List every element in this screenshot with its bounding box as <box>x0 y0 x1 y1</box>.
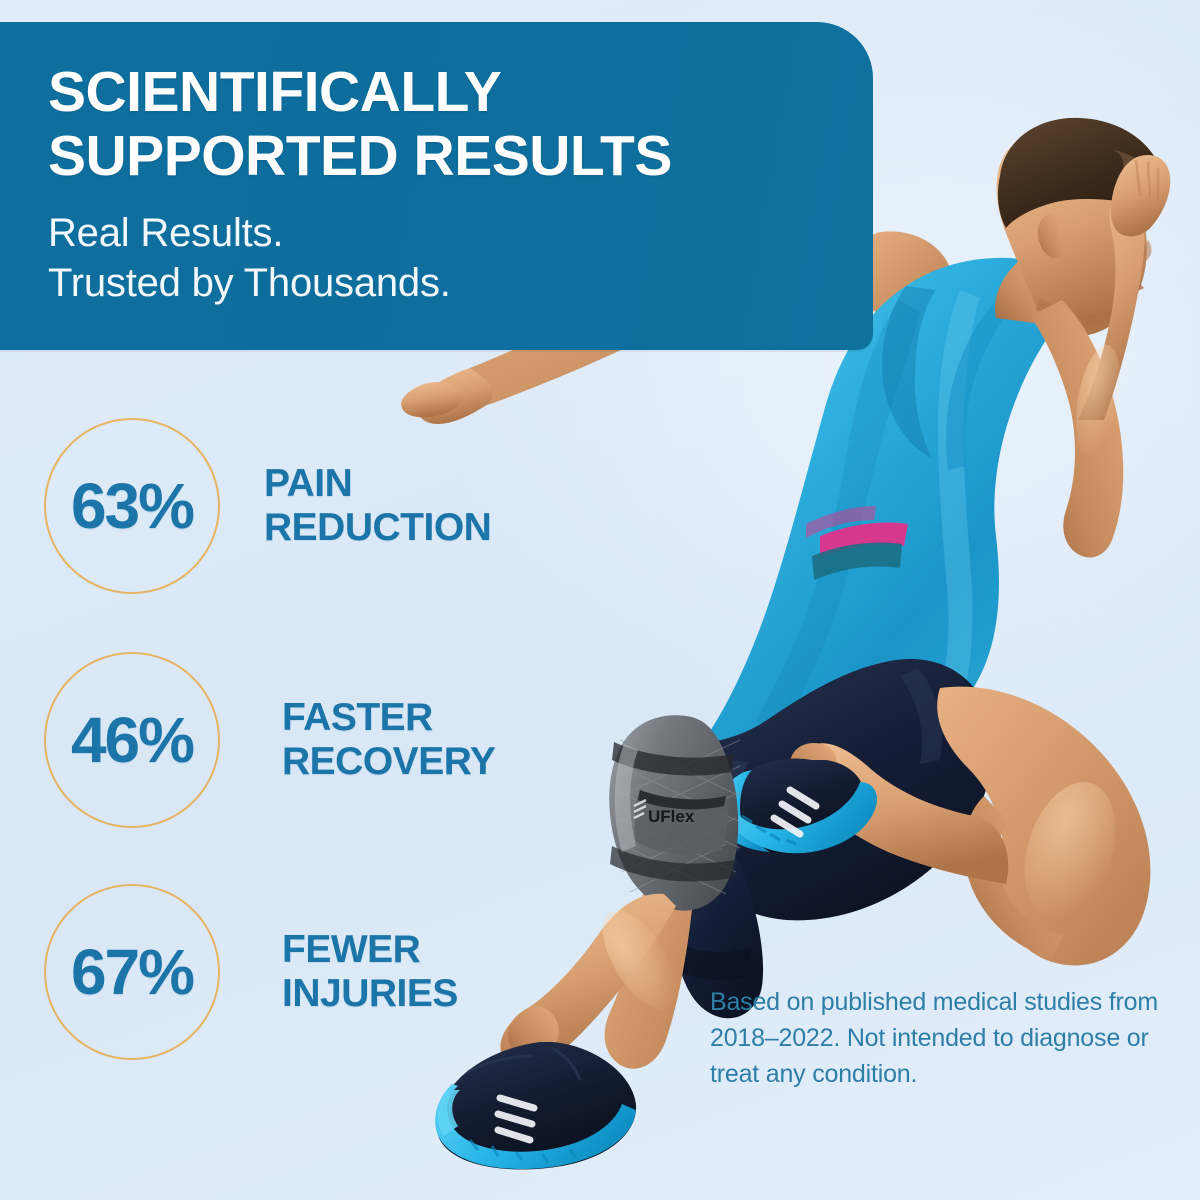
stat-item-pain-reduction: 63% PAIN REDUCTION <box>44 418 491 594</box>
stat-label-3-line-2: INJURIES <box>282 972 458 1016</box>
knee-brace-product: UFlex <box>609 715 740 910</box>
stat-label-2: FASTER RECOVERY <box>282 696 495 784</box>
infographic-canvas: UFlex <box>0 0 1200 1200</box>
stat-item-fewer-injuries: 67% FEWER INJURIES <box>44 884 458 1060</box>
stat-value-1: 63% <box>71 474 193 538</box>
statistics-group: 63% PAIN REDUCTION 46% FASTER RECOVERY 6… <box>0 0 620 1200</box>
stat-label-1-line-1: PAIN <box>264 462 491 506</box>
stat-circle-1: 63% <box>44 418 220 594</box>
stat-circle-3: 67% <box>44 884 220 1060</box>
stat-label-3-line-1: FEWER <box>282 928 458 972</box>
disclaimer-text: Based on published medical studies from … <box>710 984 1160 1092</box>
stat-item-faster-recovery: 46% FASTER RECOVERY <box>44 652 495 828</box>
stat-value-2: 46% <box>71 708 193 772</box>
stat-label-2-line-2: RECOVERY <box>282 740 495 784</box>
stat-label-1-line-2: REDUCTION <box>264 506 491 550</box>
brace-brand-label: UFlex <box>648 807 695 826</box>
stat-label-1: PAIN REDUCTION <box>264 462 491 550</box>
stat-value-3: 67% <box>71 940 193 1004</box>
stat-label-2-line-1: FASTER <box>282 696 495 740</box>
stat-label-3: FEWER INJURIES <box>282 928 458 1016</box>
stat-circle-2: 46% <box>44 652 220 828</box>
